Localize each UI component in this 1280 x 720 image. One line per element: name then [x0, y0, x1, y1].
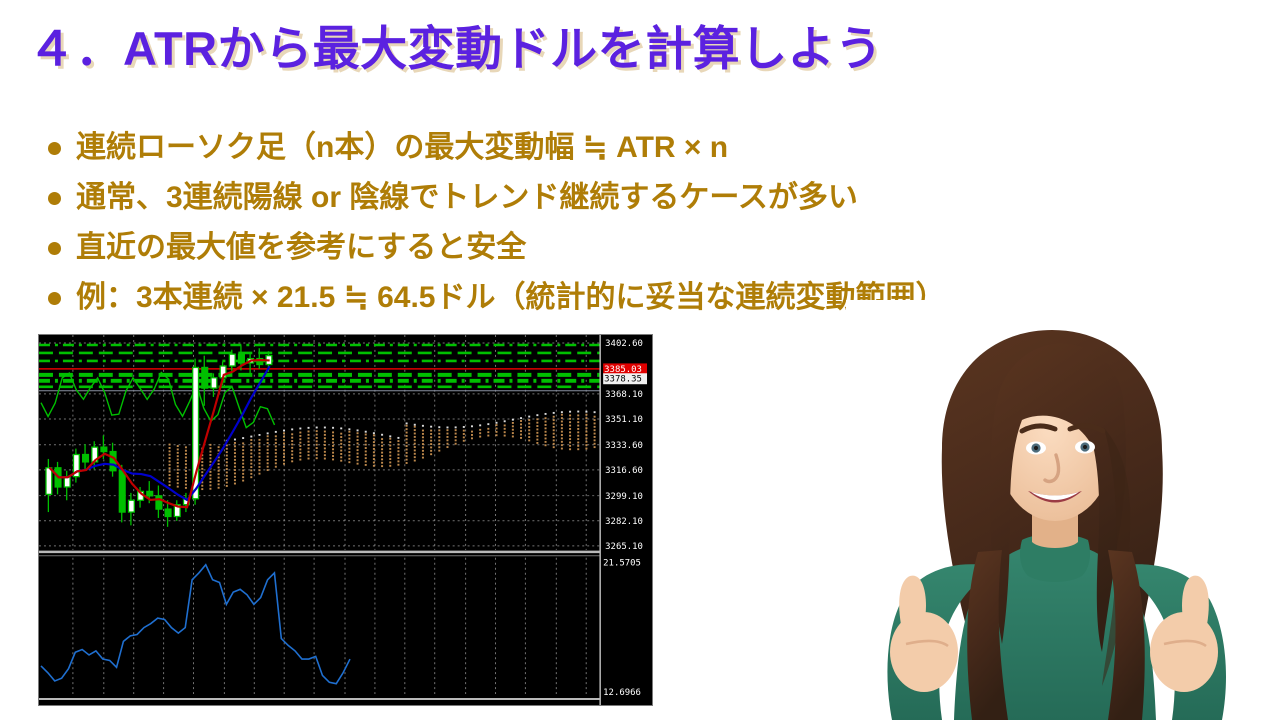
- candlestick: [229, 354, 235, 366]
- bullet-dot-icon: [48, 181, 76, 211]
- candlestick: [101, 447, 107, 451]
- price-axis-tick: 3265.10: [605, 542, 643, 552]
- atr-max-label: 21.5705: [603, 559, 641, 569]
- bullet-list: 連続ローソク足（n本）の最大変動幅 ≒ ATR × n 通常、3連続陽線 or …: [48, 122, 1248, 322]
- price-axis-tick: 3402.60: [605, 339, 643, 349]
- candlestick: [129, 500, 135, 512]
- presenter-photo: [846, 300, 1266, 720]
- price-axis-tick: 3368.10: [605, 390, 643, 400]
- ask-price-tag: 3378.35: [603, 373, 647, 384]
- list-item-label: 通常、3連続陽線 or 陰線でトレンド継続するケースが多い: [76, 172, 858, 216]
- svg-text:3378.35: 3378.35: [604, 375, 642, 385]
- candlestick: [147, 491, 153, 495]
- candlestick: [46, 468, 52, 495]
- price-axis-tick: 3299.10: [605, 492, 643, 502]
- price-axis-tick: 3333.60: [605, 441, 643, 451]
- thumb-right: [1182, 576, 1209, 636]
- thumb-left: [899, 576, 926, 636]
- bullet-dot-icon: [48, 131, 76, 161]
- list-item-label: 例：3本連続 × 21.5 ≒ 64.5ドル（統計的に妥当な連続変動範囲）: [76, 272, 945, 316]
- bullet-dot-icon: [48, 231, 76, 261]
- iris-right: [1083, 445, 1087, 449]
- price-axis-tick: 3316.60: [605, 466, 643, 476]
- candlestick: [119, 471, 125, 512]
- list-item-label: 連続ローソク足（n本）の最大変動幅 ≒ ATR × n: [76, 122, 728, 166]
- candlestick: [156, 496, 162, 509]
- price-chart-panel[interactable]: 3402.603368.103351.103333.603316.603299.…: [38, 334, 653, 706]
- iris-left: [1034, 446, 1038, 450]
- price-axis-tick: 3282.10: [605, 517, 643, 527]
- candlestick: [239, 354, 245, 363]
- bullet-dot-icon: [48, 281, 76, 311]
- bid-price-tag: 3385.03: [603, 363, 647, 374]
- atr-min-label: 12.6966: [603, 688, 641, 698]
- presenter-illustration: [846, 300, 1266, 720]
- candlestick: [165, 509, 171, 516]
- candlestick: [202, 367, 208, 388]
- fist-left: [890, 612, 958, 692]
- list-item: 連続ローソク足（n本）の最大変動幅 ≒ ATR × n: [48, 122, 1248, 172]
- list-item: 通常、3連続陽線 or 陰線でトレンド継続するケースが多い: [48, 172, 1248, 222]
- price-axis-tick: 3351.10: [605, 415, 643, 425]
- list-item: 直近の最大値を参考にすると安全: [48, 222, 1248, 272]
- fist-right: [1150, 612, 1218, 692]
- chart-canvas: 3402.603368.103351.103333.603316.603299.…: [39, 335, 652, 705]
- candlestick: [211, 378, 217, 388]
- page-title: ４．ATRから最大変動ドルを計算しよう: [28, 16, 1128, 86]
- candlestick: [83, 455, 89, 462]
- list-item-label: 直近の最大値を参考にすると安全: [76, 222, 526, 266]
